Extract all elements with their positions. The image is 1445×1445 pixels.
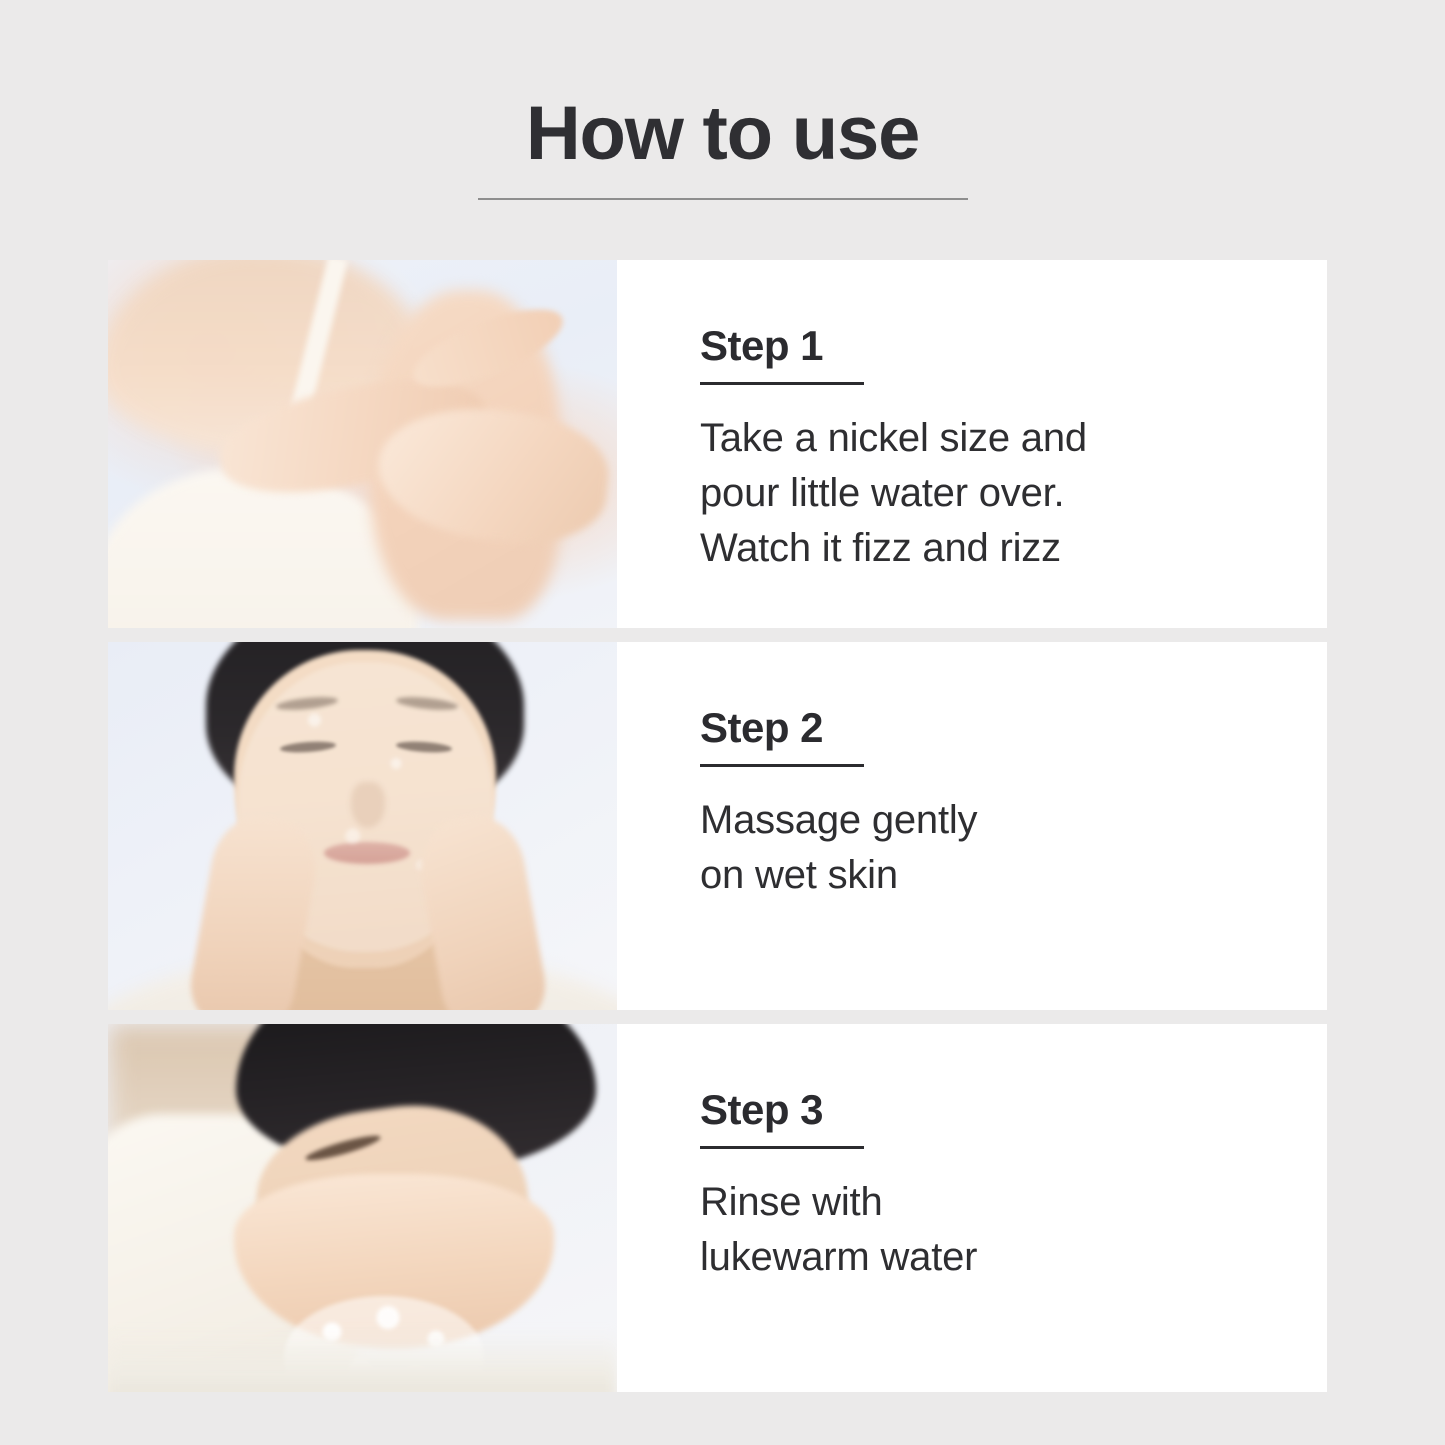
bottom-fade-shape xyxy=(108,1332,617,1392)
step-2-text-panel: Step 2 Massage gently on wet skin xyxy=(617,642,1327,1010)
step-description: Take a nickel size and pour little water… xyxy=(700,411,1287,575)
step-row: Step 1 Take a nickel size and pour littl… xyxy=(108,260,1327,628)
step-description: Massage gently on wet skin xyxy=(700,793,1287,903)
step-row: Step 2 Massage gently on wet skin xyxy=(108,642,1327,1010)
step-1-text-panel: Step 1 Take a nickel size and pour littl… xyxy=(617,260,1327,628)
step-description: Rinse with lukewarm water xyxy=(700,1175,1287,1285)
step-3-text-panel: Step 3 Rinse with lukewarm water xyxy=(617,1024,1327,1392)
title-block: How to use xyxy=(0,96,1445,200)
steps-list: Step 1 Take a nickel size and pour littl… xyxy=(108,260,1327,1406)
title-underline-rule xyxy=(478,198,968,200)
step-row: Step 3 Rinse with lukewarm water xyxy=(108,1024,1327,1392)
page-title: How to use xyxy=(0,96,1445,172)
step-3-photo xyxy=(108,1024,617,1392)
step-heading-underline xyxy=(700,1146,864,1149)
step-heading: Step 1 xyxy=(700,324,1287,368)
how-to-use-infographic: How to use Step 1 Take a nickel size and… xyxy=(0,0,1445,1445)
step-heading-underline xyxy=(700,764,864,767)
step-1-photo xyxy=(108,260,617,628)
step-2-photo xyxy=(108,642,617,1010)
step-heading: Step 3 xyxy=(700,1088,1287,1132)
step-heading-underline xyxy=(700,382,864,385)
step-heading: Step 2 xyxy=(700,706,1287,750)
